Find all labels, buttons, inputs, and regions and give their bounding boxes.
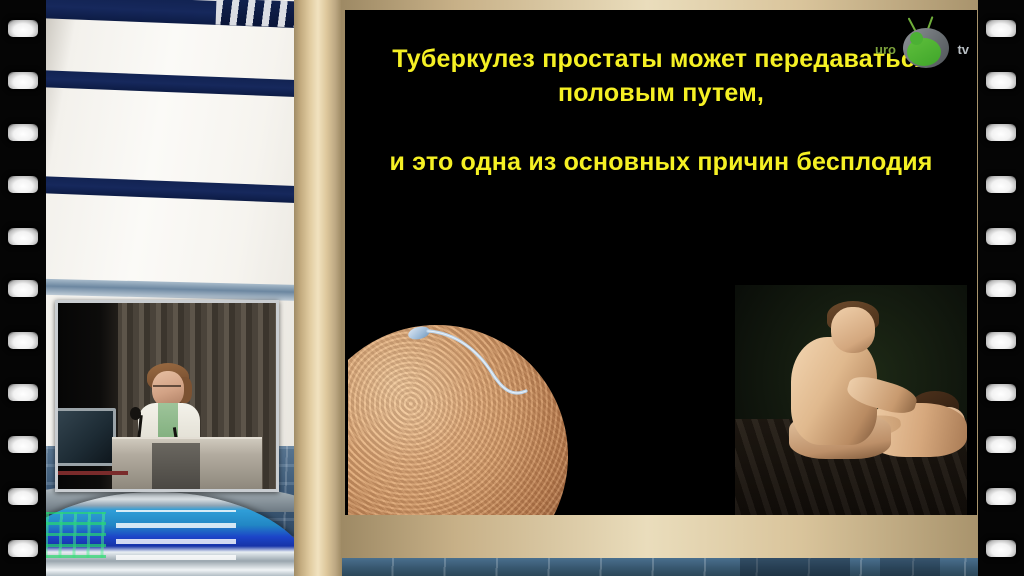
filmstrip-right	[978, 0, 1024, 576]
sprocket-hole	[986, 72, 1016, 89]
sprocket-hole	[8, 280, 38, 297]
filmstrip-left	[0, 0, 46, 576]
sprocket-hole	[8, 540, 38, 557]
podium-front-panel	[152, 443, 200, 489]
logo-text-uro: uro	[875, 42, 896, 57]
desk-highlight-slats	[116, 510, 236, 560]
man-head	[831, 307, 875, 353]
sprocket-hole	[8, 332, 38, 349]
sperm-tail	[426, 317, 546, 417]
podium-accent-line	[58, 471, 128, 475]
sprocket-hole	[8, 488, 38, 505]
sprocket-hole	[986, 228, 1016, 245]
sprocket-hole	[8, 436, 38, 453]
sprocket-hole	[8, 124, 38, 141]
slide-paragraph-2: и это одна из основных причин бесплодия	[345, 145, 977, 179]
sprocket-hole	[986, 436, 1016, 453]
logo-text-tv: tv	[957, 42, 969, 57]
sprocket-hole	[8, 20, 38, 37]
sprocket-hole	[986, 124, 1016, 141]
video-frame: Туберкулез простаты может передаваться п…	[0, 0, 1024, 576]
sprocket-hole	[986, 280, 1016, 297]
gold-column-divider	[294, 0, 342, 576]
sprocket-hole	[986, 176, 1016, 193]
ceiling-lights	[216, 0, 296, 27]
sprocket-hole	[8, 228, 38, 245]
presenter-monitor	[55, 408, 116, 466]
speaker-glasses	[153, 385, 181, 392]
sprocket-hole	[986, 332, 1016, 349]
band-shadow	[880, 558, 940, 576]
sprocket-hole	[8, 384, 38, 401]
uro-tv-logo: uro tv	[873, 16, 969, 72]
sprocket-hole	[986, 20, 1016, 37]
speaker-video-inset[interactable]	[55, 300, 279, 492]
presentation-slide[interactable]: Туберкулез простаты может передаваться п…	[345, 10, 977, 515]
desk-green-glow	[46, 512, 106, 558]
slide-frame: Туберкулез простаты может передаваться п…	[340, 0, 980, 558]
sprocket-hole	[986, 384, 1016, 401]
sprocket-hole	[986, 540, 1016, 557]
sprocket-hole	[8, 72, 38, 89]
couple-image	[735, 285, 967, 515]
band-shadow	[740, 558, 850, 576]
ovum-sperm-image	[348, 287, 611, 515]
sprocket-hole	[986, 488, 1016, 505]
bug-eye-icon	[910, 32, 923, 45]
bottom-stage-band	[340, 558, 980, 576]
sprocket-hole	[8, 176, 38, 193]
